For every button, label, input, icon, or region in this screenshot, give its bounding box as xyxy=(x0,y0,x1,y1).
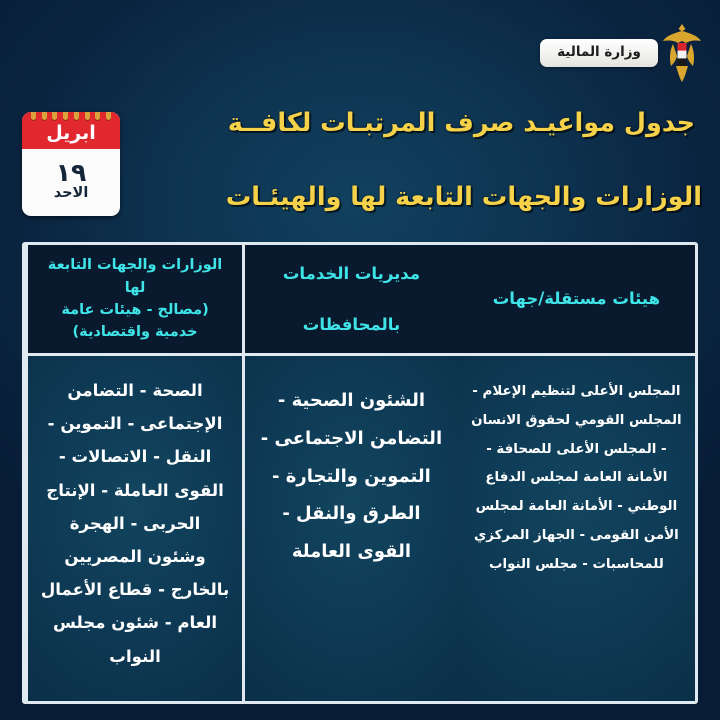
ministry-name-text: وزارة المالية xyxy=(557,46,641,60)
table-header-independent-bodies: هيئات مستقلة/جهات xyxy=(458,245,695,353)
ministry-logo: وزارة المالية xyxy=(540,22,702,84)
table-cell-ministries-list: الصحة - التضامن الإجتماعى - التموين - ال… xyxy=(25,356,242,701)
infographic-poster: وزارة المالية جدول مواعيـد صرف المرتبـات… xyxy=(0,0,720,720)
header-line: خدمية واقتصادية) xyxy=(73,324,198,340)
table-header-service-directorates: مديريات الخدمات بالمحافظات xyxy=(242,245,458,353)
service-directorates-list-text: الشئون الصحية - التضامن الاجتماعى - التم… xyxy=(255,382,448,571)
table-header-row: الوزارات والجهات التابعة لها (مصالح - هي… xyxy=(25,245,695,356)
calendar-day-name: الاحد xyxy=(54,186,89,202)
page-title-line-2: الوزارات والجهات التابعة لها والهيئـات xyxy=(226,182,702,212)
table-header-ministries: الوزارات والجهات التابعة لها (مصالح - هي… xyxy=(25,245,242,353)
calendar-rings-icon xyxy=(22,112,120,120)
header-line: مديريات الخدمات xyxy=(283,264,420,283)
header-line: (مصالح - هيئات عامة xyxy=(61,302,208,318)
calendar-day-number: ١٩ xyxy=(56,160,87,185)
header-line: الوزارات والجهات التابعة لها xyxy=(48,257,222,295)
calendar-widget: ابريل ١٩ الاحد xyxy=(22,112,120,216)
page-title-line-1: جدول مواعيـد صرف المرتبـات لكافــة xyxy=(228,108,695,138)
header-line: هيئات مستقلة/جهات xyxy=(493,289,660,308)
ministries-list-text: الصحة - التضامن الإجتماعى - التموين - ال… xyxy=(38,374,232,673)
table-body-row: الصحة - التضامن الإجتماعى - التموين - ال… xyxy=(25,356,695,701)
egypt-eagle-emblem-icon xyxy=(662,22,702,84)
salary-schedule-table: الوزارات والجهات التابعة لها (مصالح - هي… xyxy=(22,242,698,704)
table-cell-service-directorates-list: الشئون الصحية - التضامن الاجتماعى - التم… xyxy=(242,356,458,701)
table-cell-independent-bodies-list: المجلس الأعلى لتنظيم الإعلام - المجلس ال… xyxy=(458,356,695,701)
calendar-body: ١٩ الاحد xyxy=(22,149,120,216)
header-line: بالمحافظات xyxy=(303,315,400,334)
ministry-name-plate: وزارة المالية xyxy=(540,39,658,67)
independent-bodies-list-text: المجلس الأعلى لتنظيم الإعلام - المجلس ال… xyxy=(468,378,685,580)
